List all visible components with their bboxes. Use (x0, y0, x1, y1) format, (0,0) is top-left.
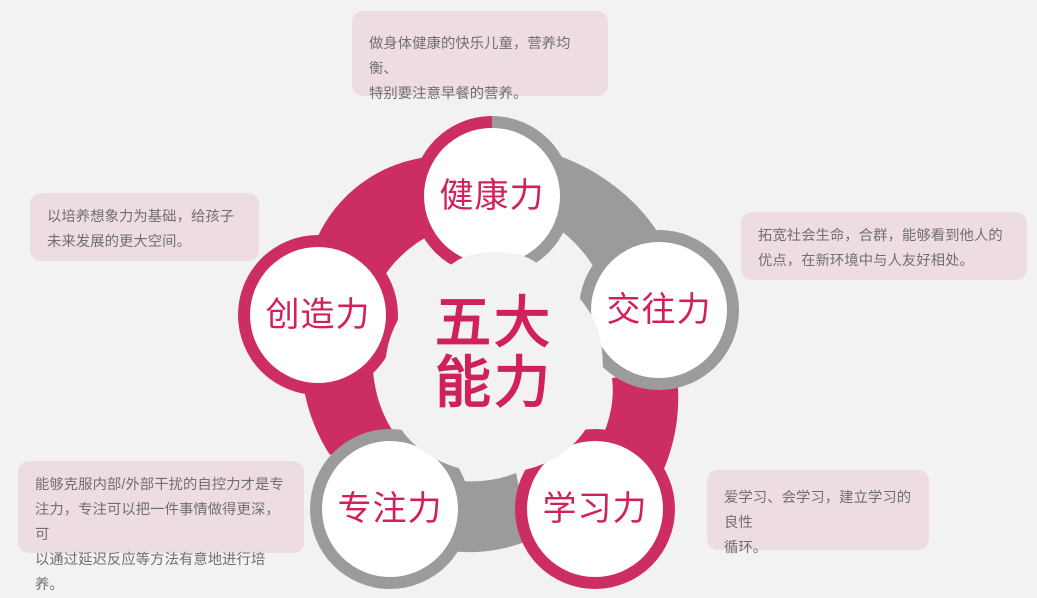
callout-social: 拓宽社会生命，合群，能够看到他人的 优点，在新环境中与人友好相处。 (741, 212, 1027, 280)
node-disk-focus[interactable] (322, 441, 458, 577)
callout-study: 爱学习、会学习，建立学习的良性 循环。 (707, 470, 929, 550)
node-disk-health[interactable] (424, 128, 560, 264)
node-disk-creativity[interactable] (250, 247, 386, 383)
callout-health: 做身体健康的快乐儿童，营养均衡、 特别要注意早餐的营养。 (352, 11, 608, 96)
callout-creativity: 以培养想象力为基础，给孩子 未来发展的更大空间。 (30, 193, 259, 261)
callout-focus: 能够克服内部/外部干扰的自控力才是专 注力，专注可以把一件事情做得更深，可 以通… (18, 461, 304, 553)
center-field (385, 252, 603, 473)
node-disk-social[interactable] (591, 242, 727, 378)
diagram-stage: 健康力 交往力 学习力 专注力 创造力 五大 能力 做身体健康的快乐儿童，营养均… (0, 0, 1037, 597)
